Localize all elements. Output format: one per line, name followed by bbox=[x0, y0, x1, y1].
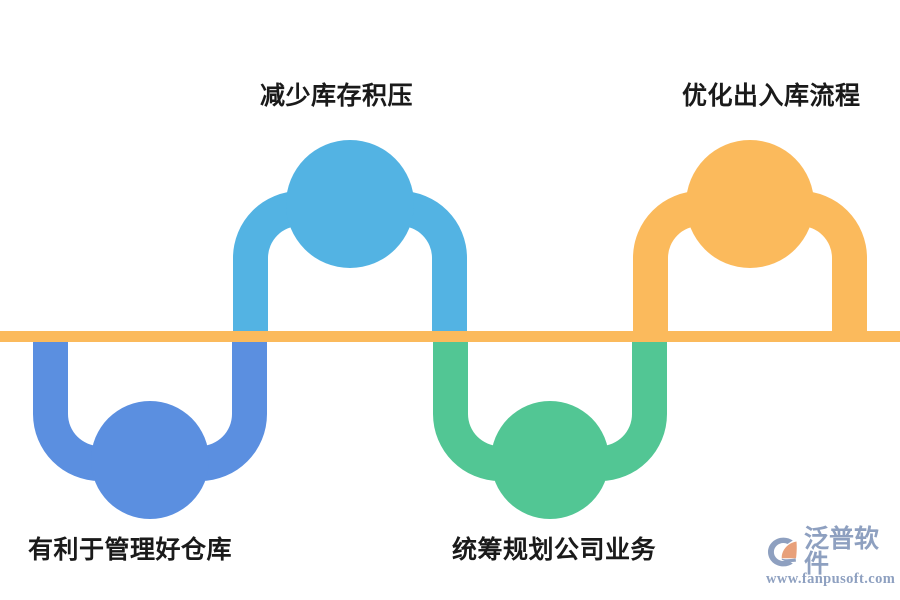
node-bottom-right-shape[interactable] bbox=[433, 331, 667, 519]
node-top-right-circle bbox=[686, 140, 814, 268]
fanpu-c-leaf-logo-icon bbox=[766, 536, 800, 568]
node-bottom-right-circle bbox=[491, 401, 609, 519]
infographic-canvas: 减少库存积压 优化出入库流程 有利于管理好仓库 统筹规划公司业务 泛普软件 ww… bbox=[0, 0, 900, 600]
brand-url: www.fanpusoft.com bbox=[766, 571, 894, 588]
node-bottom-left-shape[interactable] bbox=[33, 331, 267, 519]
node-bottom-right-label: 统筹规划公司业务 bbox=[452, 538, 656, 563]
node-top-left-shape[interactable] bbox=[233, 140, 467, 342]
node-top-left-circle bbox=[286, 140, 414, 268]
brand-name: 泛普软件 bbox=[804, 527, 894, 577]
node-top-left-label: 减少库存积压 bbox=[260, 84, 413, 109]
brand-row: 泛普软件 bbox=[766, 534, 894, 570]
horizontal-axis-bar bbox=[0, 331, 900, 342]
node-bottom-left-label: 有利于管理好仓库 bbox=[28, 538, 232, 563]
node-bottom-left-circle bbox=[91, 401, 209, 519]
brand-watermark: 泛普软件 www.fanpusoft.com bbox=[766, 534, 894, 592]
node-top-right-shape[interactable] bbox=[633, 140, 867, 342]
node-top-right-label: 优化出入库流程 bbox=[682, 84, 861, 109]
